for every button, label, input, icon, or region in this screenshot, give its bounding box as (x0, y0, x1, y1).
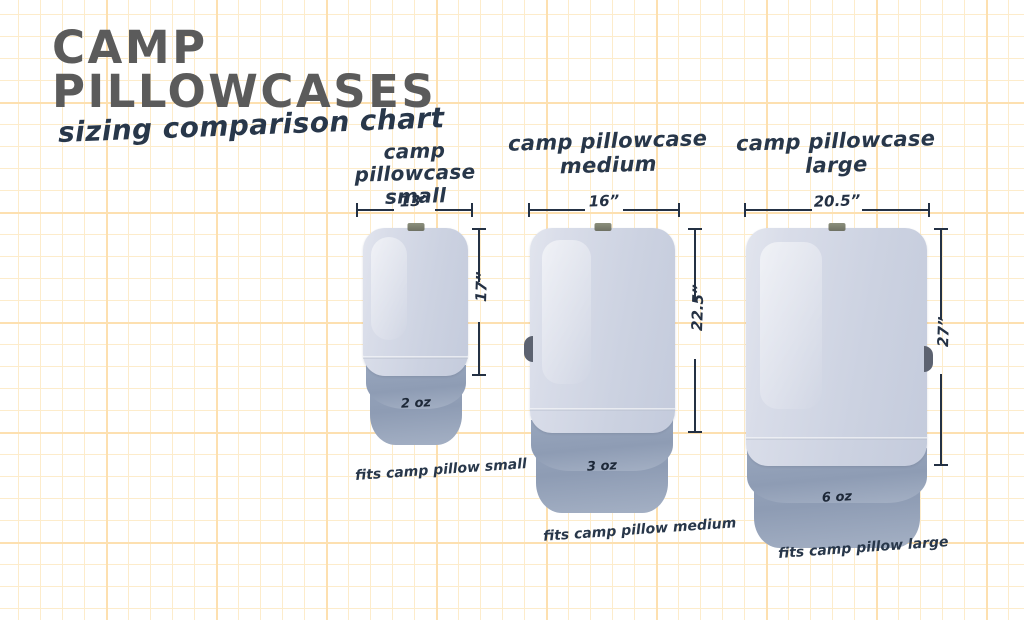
dimension-label-height-large: 27” (934, 316, 953, 347)
product-small: camp pillowcase small 13” 2 oz (330, 140, 500, 540)
fabric-highlight (542, 240, 591, 384)
dimension-height-small: 17” (470, 228, 488, 376)
dimension-height-large: 27” (932, 228, 950, 466)
stuff-sack-medium: 3 oz (536, 420, 668, 513)
fabric-seam (363, 356, 468, 359)
chart-header: CAMP PILLOWCASES sizing comparison chart (52, 26, 572, 149)
pillowcase-large (746, 228, 927, 466)
hang-tab-icon (407, 223, 424, 231)
fabric-seam (746, 437, 927, 440)
hang-tab-icon (828, 223, 845, 231)
dimension-height-medium: 22.5” (686, 228, 704, 433)
dimension-bar-bottom-segment (478, 322, 480, 374)
side-loop-icon (524, 336, 533, 362)
pillowcase-small (363, 228, 468, 376)
dimension-bar-bottom-segment (694, 359, 696, 431)
page-title-line-1: CAMP (52, 26, 572, 70)
weight-label-large: 6 oz (754, 486, 921, 510)
product-large: camp pillowcase large 20.5” 6 oz (728, 130, 978, 570)
dimension-label-height-small: 17” (472, 271, 491, 302)
weight-label-small: 2 oz (370, 394, 463, 414)
dimension-bar-bottom-segment (940, 374, 942, 464)
weight-label-medium: 3 oz (536, 456, 669, 478)
dimension-label-height-medium: 22.5” (688, 284, 708, 331)
sizing-comparison-chart: CAMP PILLOWCASES sizing comparison chart… (0, 0, 1024, 620)
dimension-cap-bottom (472, 374, 486, 376)
fabric-highlight (371, 237, 407, 341)
fabric-seam (530, 408, 675, 411)
stuff-sack-small: 2 oz (370, 365, 462, 445)
dimension-cap-bottom (934, 464, 948, 466)
fabric-highlight (760, 242, 822, 409)
dimension-bar-top-segment (940, 230, 942, 320)
pillowcase-medium (530, 228, 675, 433)
hang-tab-icon (594, 223, 611, 231)
product-medium: camp pillowcase medium 16” 3 oz (508, 130, 728, 550)
dimension-cap-bottom (688, 431, 702, 433)
